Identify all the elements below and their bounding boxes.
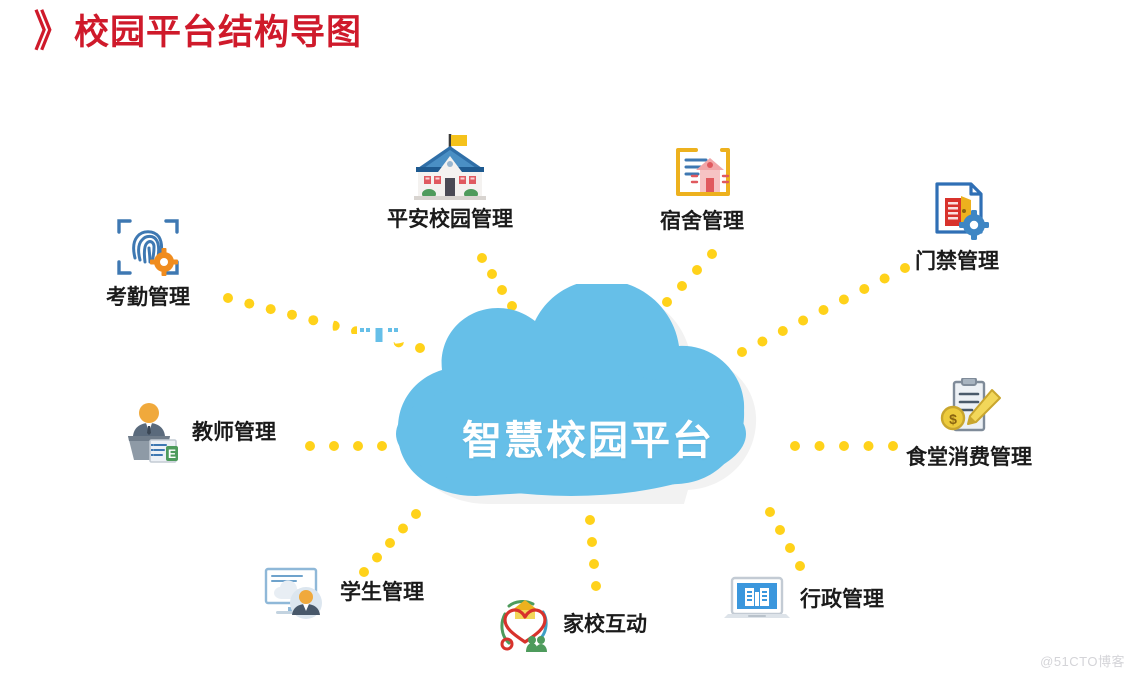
node-attendance-label: 考勤管理 [106,286,190,309]
clipboard-pencil-coin-icon: $ [934,378,1004,442]
node-safecampus-label: 平安校园管理 [387,208,513,231]
node-teacher-label: 教师管理 [192,421,276,444]
cloud-shape [378,284,798,516]
heart-home-family-icon [495,596,555,654]
node-homeschool[interactable]: 家校互动 [495,596,647,654]
watermark: @51CTO博客 [1040,651,1125,670]
diagram-canvas: 》 校园平台结构导图 [0,0,1141,682]
double-chevron-icon: 》 [34,11,64,53]
node-student[interactable]: 学生管理 [262,565,424,621]
node-safecampus[interactable]: 平安校园管理 [387,132,513,231]
page-title-text: 校园平台结构导图 [74,15,362,50]
door-access-document-gear-icon [923,180,991,246]
node-student-label: 学生管理 [340,581,424,604]
svg-text:$: $ [949,411,957,427]
node-homeschool-label: 家校互动 [563,613,647,636]
node-dorm[interactable]: 宿舍管理 [660,146,744,233]
center-node-label: 智慧校园平台 [378,408,798,466]
monitor-student-avatar-icon [262,565,332,621]
laptop-building-icon [722,574,792,626]
node-attendance[interactable]: 考勤管理 [106,212,190,309]
graduation-cap-school-cloud-icon [329,284,427,350]
node-access-label: 门禁管理 [915,250,999,273]
node-dorm-label: 宿舍管理 [660,210,744,233]
node-access[interactable]: 门禁管理 [915,180,999,273]
dormitory-card-icon [670,146,734,206]
coin-sub-icon: $ [942,407,964,429]
school-building-flag-icon [410,132,490,204]
svg-text:E: E [168,447,176,461]
node-canteen-label: 食堂消费管理 [906,446,1032,469]
node-teacher[interactable]: E 教师管理 [122,402,276,464]
center-node-cloud[interactable]: 智慧校园平台 [378,284,798,516]
node-admin-label: 行政管理 [800,588,884,611]
node-admin[interactable]: 行政管理 [722,574,884,626]
node-canteen[interactable]: $ 食堂消费管理 [906,378,1032,469]
teacher-podium-icon: E [122,402,184,464]
fingerprint-scan-gear-icon [113,212,183,282]
page-title: 》 校园平台结构导图 [34,14,362,50]
